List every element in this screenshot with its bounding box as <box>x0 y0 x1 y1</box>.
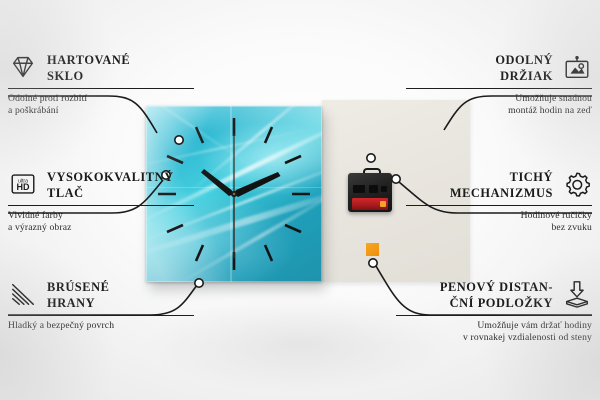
press-layers-icon <box>562 279 592 309</box>
feature-description: Hladký a bezpečný povrch <box>8 320 194 332</box>
feature-divider <box>396 315 592 316</box>
feature-desc-line2: montáž hodin na zeď <box>406 105 592 117</box>
feature-title-line1: HARTOVANÉ <box>47 53 130 69</box>
product-feature-infographic: HARTOVANÉ SKLO Odolné proti rozbití a po… <box>0 0 600 400</box>
hour-hand <box>201 169 234 196</box>
beveled-edge-icon <box>8 279 38 309</box>
feature-description: Vividné farby a výrazný obraz <box>8 210 194 234</box>
feature-desc-line1: Hodinové ručičky <box>406 210 592 222</box>
feature-foam-spacers: PENOVÝ DISTAN- ČNÍ PODLOŽKY Umožňuje vám… <box>396 279 592 344</box>
feature-durable-hanger: ODOLNÝ DRŽIAK Umožňuje snadnou montáž ho… <box>406 52 592 117</box>
feature-title-line1: VYSOKOKVALITNÝ <box>47 170 174 186</box>
feature-desc-line1: Vividné farby <box>8 210 194 222</box>
feature-high-quality-print: ultra HD VYSOKOKVALITNÝ TLAČ Vividné far… <box>8 169 194 234</box>
mechanism-detail <box>381 186 387 192</box>
feature-title: ODOLNÝ DRŽIAK <box>495 52 553 84</box>
feature-title-line2: MECHANIZMUS <box>450 186 553 202</box>
feature-divider <box>8 88 194 89</box>
feature-title-line1: TICHÝ <box>450 170 553 186</box>
feature-desc-line2: v rovnakej vzdialenosti od steny <box>396 332 592 344</box>
feature-header: PENOVÝ DISTAN- ČNÍ PODLOŽKY <box>396 279 592 311</box>
feature-description: Odolné proti rozbití a poškrábání <box>8 93 194 117</box>
battery <box>352 198 388 210</box>
foam-pad-top <box>366 243 379 256</box>
feature-silent-mechanism: TICHÝ MECHANIZMUS Hodinové ručičky bez z… <box>406 169 592 234</box>
hd-label: HD <box>17 182 30 192</box>
feature-desc-line2: a výrazný obraz <box>8 222 194 234</box>
feature-divider <box>8 205 194 206</box>
feature-desc-line1: Odolné proti rozbití <box>8 93 194 105</box>
feature-desc-line1: Hladký a bezpečný povrch <box>8 320 194 332</box>
minute-hand <box>234 172 281 197</box>
feature-header: BRÚSENÉ HRANY <box>8 279 194 311</box>
feature-title: BRÚSENÉ HRANY <box>47 279 109 311</box>
feature-desc-line2: bez zvuku <box>406 222 592 234</box>
feature-desc-line2: a poškrábání <box>8 105 194 117</box>
feature-title: TICHÝ MECHANIZMUS <box>450 169 553 201</box>
gear-icon <box>562 169 592 199</box>
feature-divider <box>406 205 592 206</box>
mechanism-body <box>348 173 392 212</box>
feature-title-line2: DRŽIAK <box>495 69 553 85</box>
ultra-hd-icon: ultra HD <box>8 169 38 199</box>
feature-divider <box>8 315 194 316</box>
mechanism-detail <box>353 185 365 193</box>
feature-title-line2: ČNÍ PODLOŽKY <box>440 296 553 312</box>
mechanism-detail <box>369 185 378 193</box>
feature-title: VYSOKOKVALITNÝ TLAČ <box>47 169 174 201</box>
hand-hub-center <box>233 193 235 195</box>
feature-title-line1: BRÚSENÉ <box>47 280 109 296</box>
feature-title: PENOVÝ DISTAN- ČNÍ PODLOŽKY <box>440 279 553 311</box>
feature-title-line2: SKLO <box>47 69 130 85</box>
feature-header: ODOLNÝ DRŽIAK <box>406 52 592 84</box>
feature-title: HARTOVANÉ SKLO <box>47 52 130 84</box>
feature-header: HARTOVANÉ SKLO <box>8 52 194 84</box>
feature-ground-edges: BRÚSENÉ HRANY Hladký a bezpečný povrch <box>8 279 194 332</box>
clock-mechanism <box>348 168 392 212</box>
feature-title-line2: TLAČ <box>47 186 174 202</box>
feature-desc-line1: Umožňuje vám držať hodiny <box>396 320 592 332</box>
feature-description: Hodinové ručičky bez zvuku <box>406 210 592 234</box>
feature-divider <box>406 88 592 89</box>
feature-hardened-glass: HARTOVANÉ SKLO Odolné proti rozbití a po… <box>8 52 194 117</box>
feature-description: Umožňuje vám držať hodiny v rovnakej vzd… <box>396 320 592 344</box>
foam-spacer-pad <box>366 243 382 259</box>
feature-header: ultra HD VYSOKOKVALITNÝ TLAČ <box>8 169 194 201</box>
battery-terminal <box>380 201 386 207</box>
feature-description: Umožňuje snadnou montáž hodin na zeď <box>406 93 592 117</box>
feature-title-line1: ODOLNÝ <box>495 53 553 69</box>
diamond-icon <box>8 52 38 82</box>
feature-title-line1: PENOVÝ DISTAN- <box>440 280 553 296</box>
feature-desc-line1: Umožňuje snadnou <box>406 93 592 105</box>
feature-header: TICHÝ MECHANIZMUS <box>406 169 592 201</box>
feature-title-line2: HRANY <box>47 296 109 312</box>
picture-hanger-icon <box>562 52 592 82</box>
